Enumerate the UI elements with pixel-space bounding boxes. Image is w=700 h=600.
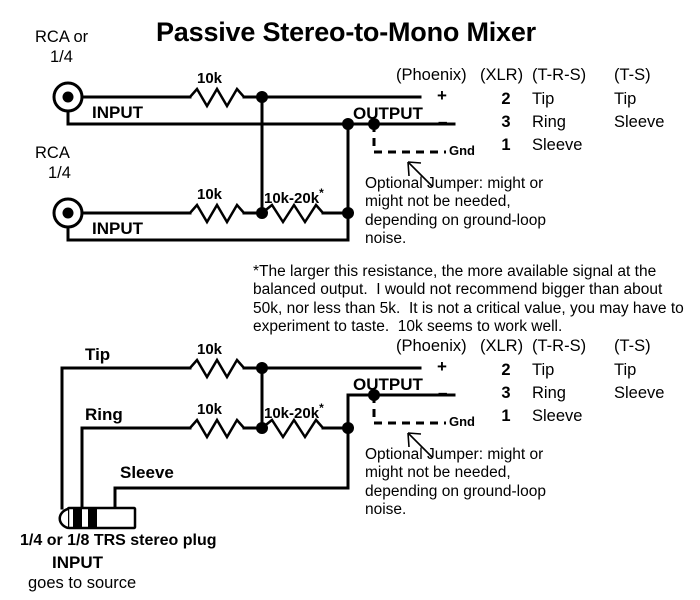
junction-dot bbox=[256, 207, 268, 219]
diagram-canvas: Passive Stereo-to-Mono Mixer RCA or 1/4 … bbox=[0, 0, 700, 600]
table-header-xlr: (XLR) bbox=[480, 337, 532, 356]
resistor-label-10k-tip: 10k bbox=[197, 341, 222, 359]
rca-jack-1-symbol bbox=[54, 83, 82, 111]
table-header-phoenix: (Phoenix) bbox=[396, 66, 480, 85]
resistor-10k-bottom-symbol bbox=[190, 205, 244, 222]
input-2-label: INPUT bbox=[92, 219, 143, 239]
plug-caption: 1/4 or 1/8 TRS stereo plug bbox=[20, 532, 217, 551]
cell-xlr: 2 bbox=[480, 361, 532, 380]
cell-trs: Sleeve bbox=[532, 407, 614, 426]
table-header-xlr: (XLR) bbox=[480, 66, 532, 85]
junction-dot bbox=[342, 422, 354, 434]
rca-1-label-line1: RCA or bbox=[35, 28, 88, 47]
resistor-label-10k-top: 10k bbox=[197, 70, 222, 88]
junction-dot bbox=[256, 91, 268, 103]
tip-label: Tip bbox=[85, 345, 110, 365]
junction-dot bbox=[256, 422, 268, 434]
cell-xlr: 3 bbox=[480, 384, 532, 403]
resistor-label-10k-20k-upper: 10k-20k* bbox=[264, 186, 324, 208]
table-header-trs: (T-R-S) bbox=[532, 337, 614, 356]
trs-plug-symbol bbox=[60, 508, 135, 528]
cell-ts bbox=[614, 136, 674, 155]
optional-jumper-note-upper: Optional Jumper: might or might not be n… bbox=[365, 175, 546, 248]
rca-jack-2-symbol bbox=[54, 199, 82, 227]
cell-trs: Sleeve bbox=[532, 136, 614, 155]
resistor-value: 10k-20k bbox=[264, 405, 319, 422]
ring-label: Ring bbox=[85, 405, 123, 425]
cell-xlr: 1 bbox=[480, 136, 532, 155]
rca-1-label-line2: 1/4 bbox=[50, 48, 73, 67]
cell-xlr: 2 bbox=[480, 90, 532, 109]
cell-ts bbox=[614, 407, 674, 426]
resistor-value: 10k-20k bbox=[264, 190, 319, 207]
cell-ts: Sleeve bbox=[614, 384, 674, 403]
footnote-star: * bbox=[319, 401, 324, 415]
table-row: 2 Tip Tip bbox=[396, 361, 674, 380]
plug-input-label: INPUT bbox=[52, 553, 103, 573]
table-row: 2 Tip Tip bbox=[396, 90, 674, 109]
junction-dot bbox=[256, 362, 268, 374]
input-1-label: INPUT bbox=[92, 103, 143, 123]
table-header-ts: (T-S) bbox=[614, 337, 674, 356]
junction-dot bbox=[342, 207, 354, 219]
optional-jumper-note-lower: Optional Jumper: might or might not be n… bbox=[365, 446, 546, 519]
page-title: Passive Stereo-to-Mono Mixer bbox=[156, 17, 536, 49]
rca-2-label-line2: 1/4 bbox=[48, 164, 71, 183]
plug-source-label: goes to source bbox=[28, 574, 136, 593]
footnote-text: *The larger this resistance, the more av… bbox=[253, 263, 684, 336]
table-row: 1 Sleeve bbox=[396, 136, 674, 155]
connector-table-upper: (Phoenix) (XLR) (T-R-S) (T-S) 2 Tip Tip … bbox=[396, 66, 674, 155]
cell-trs: Tip bbox=[532, 361, 614, 380]
rca-2-label-line1: RCA bbox=[35, 144, 70, 163]
resistor-10k-ring-symbol bbox=[190, 420, 244, 437]
table-header-ts: (T-S) bbox=[614, 66, 674, 85]
table-row: 3 Ring Sleeve bbox=[396, 384, 674, 403]
table-header-trs: (T-R-S) bbox=[532, 66, 614, 85]
cell-xlr: 1 bbox=[480, 407, 532, 426]
cell-ts: Tip bbox=[614, 90, 674, 109]
cell-trs: Tip bbox=[532, 90, 614, 109]
resistor-10k-top-symbol bbox=[190, 89, 244, 106]
table-row: 3 Ring Sleeve bbox=[396, 113, 674, 132]
footnote-star: * bbox=[319, 186, 324, 200]
cell-trs: Ring bbox=[532, 113, 614, 132]
cell-ts: Tip bbox=[614, 361, 674, 380]
resistor-label-10k-20k-lower: 10k-20k* bbox=[264, 401, 324, 423]
resistor-label-10k-bottom: 10k bbox=[197, 186, 222, 204]
table-row: 1 Sleeve bbox=[396, 407, 674, 426]
cell-trs: Ring bbox=[532, 384, 614, 403]
cell-xlr: 3 bbox=[480, 113, 532, 132]
connector-table-lower: (Phoenix) (XLR) (T-R-S) (T-S) 2 Tip Tip … bbox=[396, 337, 674, 426]
resistor-label-10k-ring: 10k bbox=[197, 401, 222, 419]
sleeve-label: Sleeve bbox=[120, 463, 174, 483]
table-header-phoenix: (Phoenix) bbox=[396, 337, 480, 356]
resistor-10k-tip-symbol bbox=[190, 360, 244, 377]
cell-ts: Sleeve bbox=[614, 113, 674, 132]
